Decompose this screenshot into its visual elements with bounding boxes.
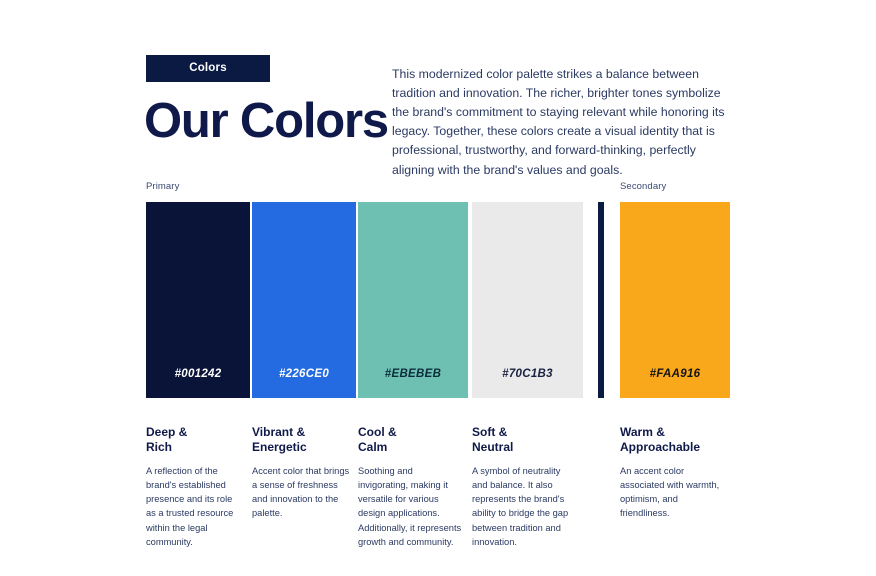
color-swatch[interactable]: #FAA916 bbox=[620, 202, 730, 398]
swatch-description: Warm & ApproachableAn accent color assoc… bbox=[620, 425, 724, 521]
swatch-description: Soft & NeutralA symbol of neutrality and… bbox=[472, 425, 577, 549]
color-swatch[interactable]: #EBEBEB bbox=[358, 202, 468, 398]
color-palette-page: Colors Our Colors This modernized color … bbox=[0, 0, 876, 576]
swatch-description-title: Vibrant & Energetic bbox=[252, 425, 350, 455]
swatch-hex-label: #226CE0 bbox=[252, 368, 356, 380]
swatch-description-body: An accent color associated with warmth, … bbox=[620, 464, 724, 521]
page-title: Our Colors bbox=[144, 97, 388, 146]
primary-group-label: Primary bbox=[146, 181, 179, 192]
color-swatch[interactable]: #001242 bbox=[146, 202, 250, 398]
color-swatch[interactable]: #226CE0 bbox=[252, 202, 356, 398]
intro-paragraph: This modernized color palette strikes a … bbox=[392, 65, 736, 179]
swatch-description: Cool & CalmSoothing and invigorating, ma… bbox=[358, 425, 462, 549]
swatch-description: Vibrant & EnergeticAccent color that bri… bbox=[252, 425, 350, 521]
swatch-description-body: A reflection of the brand's established … bbox=[146, 464, 244, 549]
swatch-description-title: Soft & Neutral bbox=[472, 425, 577, 455]
group-divider-bar bbox=[598, 202, 604, 398]
swatch-hex-label: #FAA916 bbox=[620, 368, 730, 380]
swatch-description-body: Soothing and invigorating, making it ver… bbox=[358, 464, 462, 549]
swatch-description-title: Warm & Approachable bbox=[620, 425, 724, 455]
swatch-hex-label: #70C1B3 bbox=[472, 368, 583, 380]
header-left-column: Colors Our Colors bbox=[146, 55, 376, 82]
color-swatch[interactable]: #70C1B3 bbox=[472, 202, 583, 398]
swatch-description-title: Cool & Calm bbox=[358, 425, 462, 455]
swatch-description-body: A symbol of neutrality and balance. It a… bbox=[472, 464, 577, 549]
section-badge: Colors bbox=[146, 55, 270, 82]
swatch-hex-label: #EBEBEB bbox=[358, 368, 468, 380]
swatch-hex-label: #001242 bbox=[146, 368, 250, 380]
swatch-description: Deep & RichA reflection of the brand's e… bbox=[146, 425, 244, 549]
swatch-description-title: Deep & Rich bbox=[146, 425, 244, 455]
secondary-group-label: Secondary bbox=[620, 181, 666, 192]
swatch-description-body: Accent color that brings a sense of fres… bbox=[252, 464, 350, 521]
swatch-row: #001242#226CE0#EBEBEB#70C1B3#FAA916 bbox=[146, 202, 730, 398]
